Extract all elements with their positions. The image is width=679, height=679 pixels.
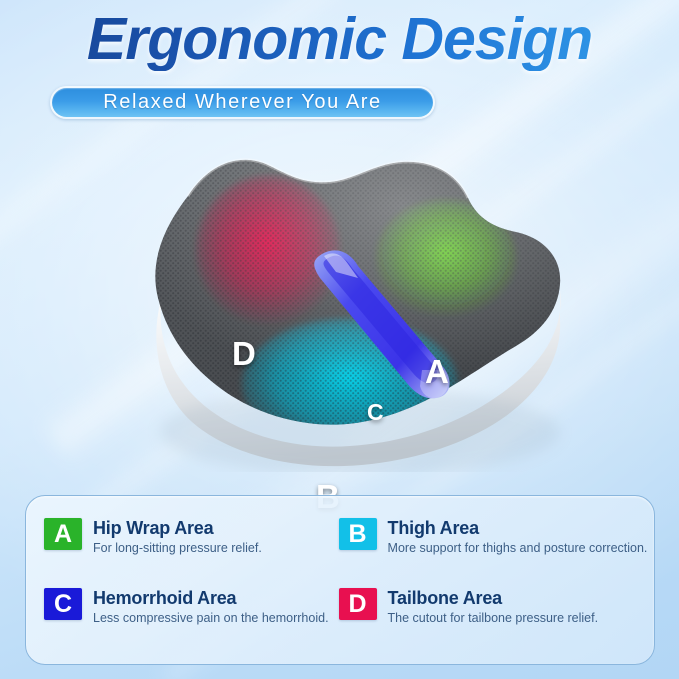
legend-item-d: D Tailbone Area The cutout for tailbone … [339, 588, 648, 646]
legend-badge-d: D [339, 588, 377, 620]
legend-badge-b: B [339, 518, 377, 550]
legend-title-c: Hemorrhoid Area [93, 588, 329, 609]
legend-title-b: Thigh Area [388, 518, 648, 539]
cushion-illustration [92, 132, 592, 472]
legend-desc-b: More support for thighs and posture corr… [388, 541, 648, 556]
subtitle-text: Relaxed Wherever You Are [103, 91, 382, 114]
legend-title-d: Tailbone Area [388, 588, 599, 609]
legend-item-a: A Hip Wrap Area For long-sitting pressur… [44, 518, 329, 576]
subtitle-pill: Relaxed Wherever You Are [50, 86, 435, 119]
legend-grid: A Hip Wrap Area For long-sitting pressur… [26, 496, 654, 664]
legend-desc-a: For long-sitting pressure relief. [93, 541, 262, 556]
legend-badge-c: C [44, 588, 82, 620]
legend-title-a: Hip Wrap Area [93, 518, 262, 539]
page-title: Ergonomic Design [0, 8, 679, 71]
legend-item-b: B Thigh Area More support for thighs and… [339, 518, 648, 576]
product-image: D A C B [92, 132, 592, 472]
legend-badge-a: A [44, 518, 82, 550]
legend-panel: A Hip Wrap Area For long-sitting pressur… [25, 495, 655, 665]
legend-desc-d: The cutout for tailbone pressure relief. [388, 611, 599, 626]
legend-item-c: C Hemorrhoid Area Less compressive pain … [44, 588, 329, 646]
legend-desc-c: Less compressive pain on the hemorrhoid. [93, 611, 329, 626]
infographic-page: Ergonomic Design Relaxed Wherever You Ar… [0, 0, 679, 679]
